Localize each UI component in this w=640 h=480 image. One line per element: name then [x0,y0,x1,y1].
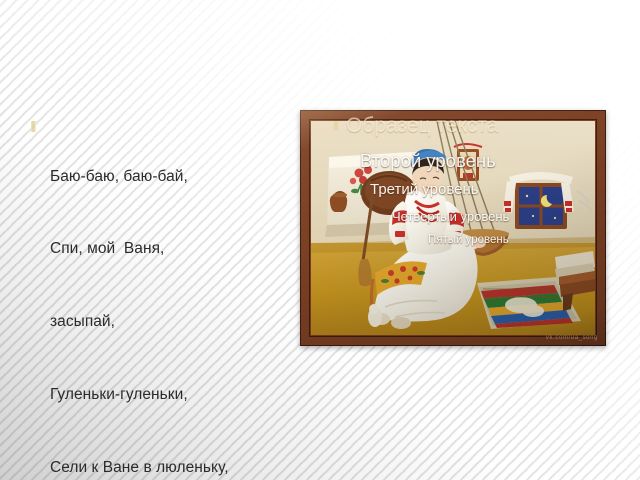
picture-frame[interactable]: vk.com/ua_song [300,110,606,346]
poem-line: Спи, мой Ваня, [50,237,289,261]
illustration-image [311,121,595,335]
poem-line: Гуленьки-гуленьки, [50,383,289,407]
slide-canvas: Баю-баю, баю-бай, Спи, мой Ваня, засыпай… [0,0,640,480]
poem-lines: Баю-баю, баю-бай, Спи, мой Ваня, засыпай… [50,116,289,480]
poem-line: Сели к Ване в люленьку, [50,456,289,480]
square-bullet-icon [31,121,36,132]
poem-line: Баю-баю, баю-бай, [50,165,289,189]
poem-text-block[interactable]: Баю-баю, баю-бай, Спи, мой Ваня, засыпай… [31,116,289,480]
poem-line: засыпай, [50,310,289,334]
image-watermark: vk.com/ua_song [546,335,598,341]
